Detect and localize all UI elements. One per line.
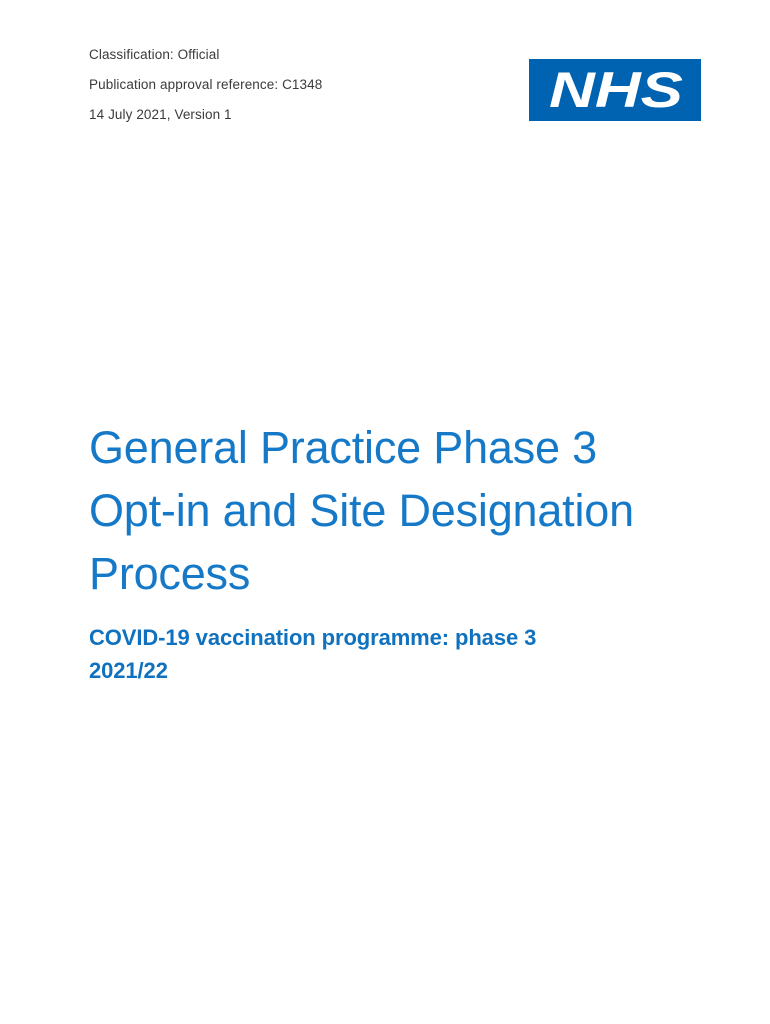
nhs-logo: NHS: [529, 59, 701, 121]
page-title-line-1: General Practice Phase 3: [89, 416, 709, 479]
nhs-logo-text: NHS: [549, 62, 683, 118]
document-page: Classification: Official Publication app…: [0, 0, 770, 1024]
page-subtitle-line-1: COVID-19 vaccination programme: phase 3: [89, 625, 536, 650]
page-subtitle: COVID-19 vaccination programme: phase 3 …: [89, 622, 689, 687]
document-metadata: Classification: Official Publication app…: [89, 40, 509, 130]
classification-line: Classification: Official: [89, 40, 509, 70]
page-title-line-3: Process: [89, 542, 709, 605]
publication-date-line: 14 July 2021, Version 1: [89, 100, 509, 130]
page-subtitle-line-2: 2021/22: [89, 658, 168, 683]
publication-reference-line: Publication approval reference: C1348: [89, 70, 509, 100]
page-title-line-2: Opt-in and Site Designation: [89, 479, 709, 542]
document-title-block: General Practice Phase 3 Opt-in and Site…: [89, 416, 709, 605]
